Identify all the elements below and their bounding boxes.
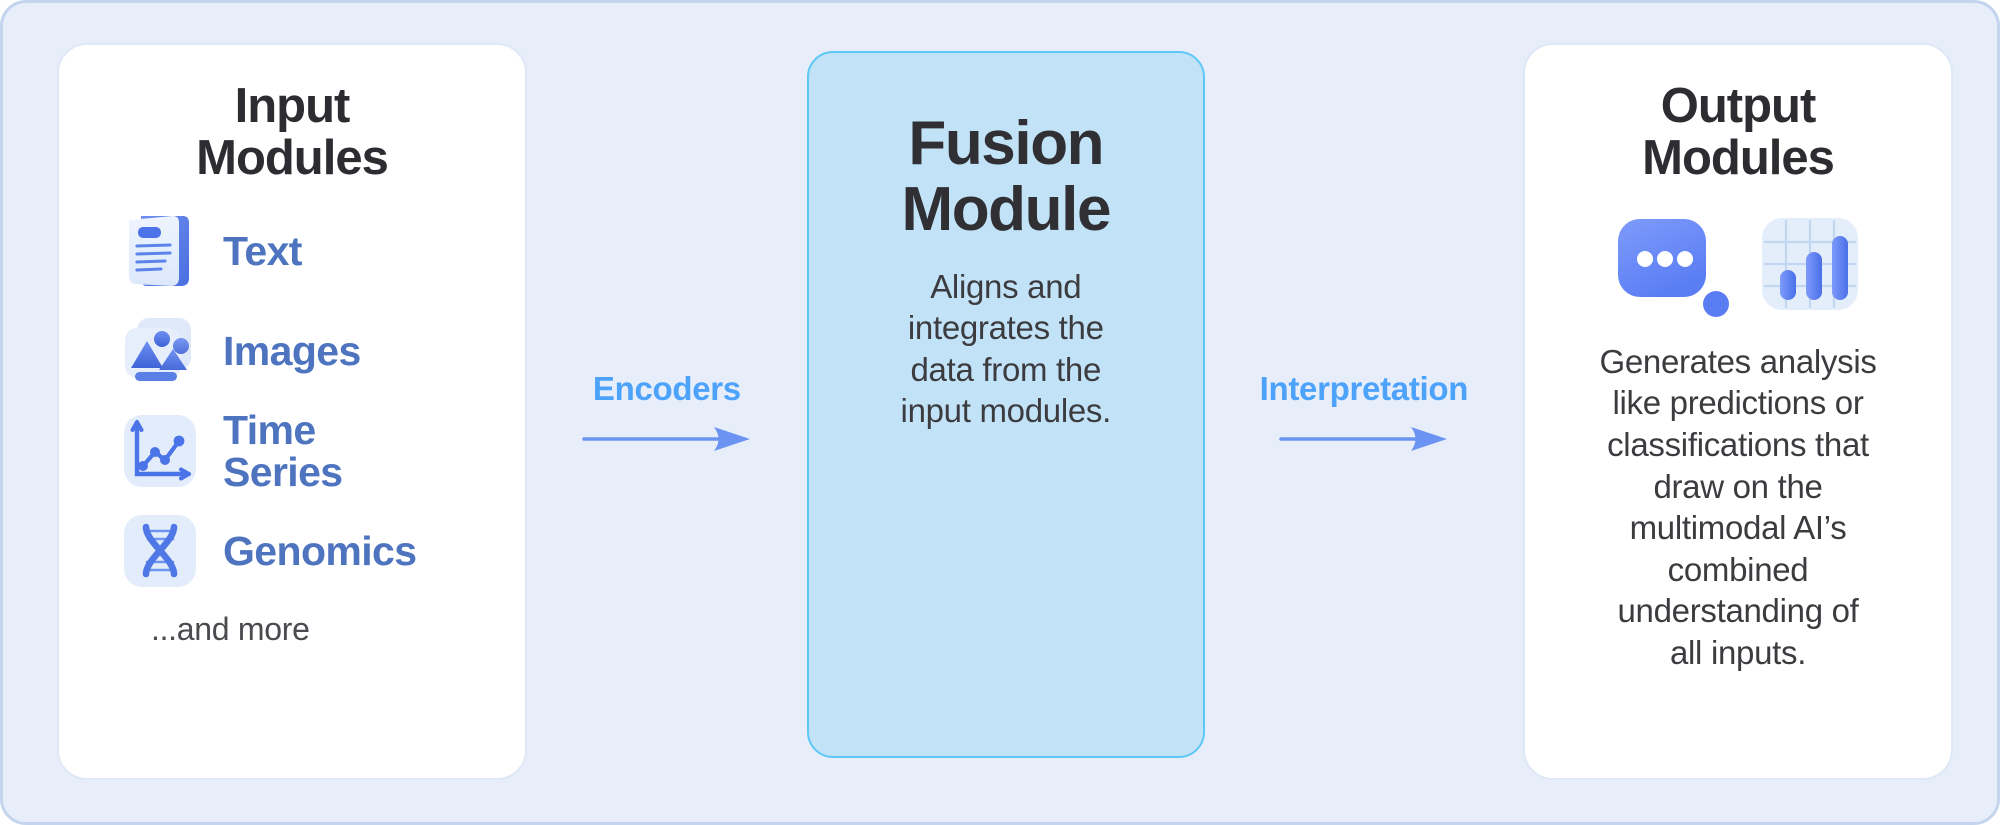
- input-module-time-series[interactable]: Time Series: [117, 403, 343, 499]
- dna-helix-icon: [117, 508, 203, 594]
- output-modules-card: Output Modules: [1523, 43, 1953, 780]
- connector-encoders-label: Encoders: [593, 370, 741, 408]
- diagram-flow: Input Modules: [3, 3, 1997, 822]
- output-modules-title: Output Modules: [1642, 81, 1834, 185]
- fusion-module-card: Fusion Module Aligns and integrates the …: [807, 51, 1205, 758]
- connector-interpretation-label: Interpretation: [1260, 370, 1468, 408]
- input-modules-title: Input Modules: [196, 81, 388, 185]
- input-module-label: Text: [223, 230, 302, 272]
- connector-encoders: Encoders: [527, 43, 807, 780]
- output-icon-group: [1612, 207, 1864, 325]
- chat-bubble-icon: [1612, 207, 1730, 325]
- input-module-images[interactable]: Images: [117, 303, 361, 399]
- images-icon: [117, 308, 203, 394]
- input-module-label: Images: [223, 330, 361, 372]
- input-module-text[interactable]: Text: [117, 203, 302, 299]
- input-module-list: Text: [83, 203, 501, 599]
- input-module-label: Time Series: [223, 409, 343, 493]
- input-module-genomics[interactable]: Genomics: [117, 503, 416, 599]
- output-modules-description: Generates analysis like predictions or c…: [1599, 341, 1876, 674]
- bar-chart-icon: [1756, 212, 1864, 320]
- connector-interpretation: Interpretation: [1205, 43, 1523, 780]
- arrow-right-icon: [527, 424, 807, 454]
- input-module-label: Genomics: [223, 530, 416, 572]
- fusion-module-title: Fusion Module: [901, 111, 1110, 244]
- input-modules-footnote: ...and more: [151, 611, 310, 648]
- diagram-canvas: Input Modules: [0, 0, 2000, 825]
- fusion-module-description: Aligns and integrates the data from the …: [901, 266, 1111, 432]
- input-modules-card: Input Modules: [57, 43, 527, 780]
- line-chart-icon: [117, 408, 203, 494]
- document-text-icon: [117, 208, 203, 294]
- arrow-right-icon: [1205, 424, 1523, 454]
